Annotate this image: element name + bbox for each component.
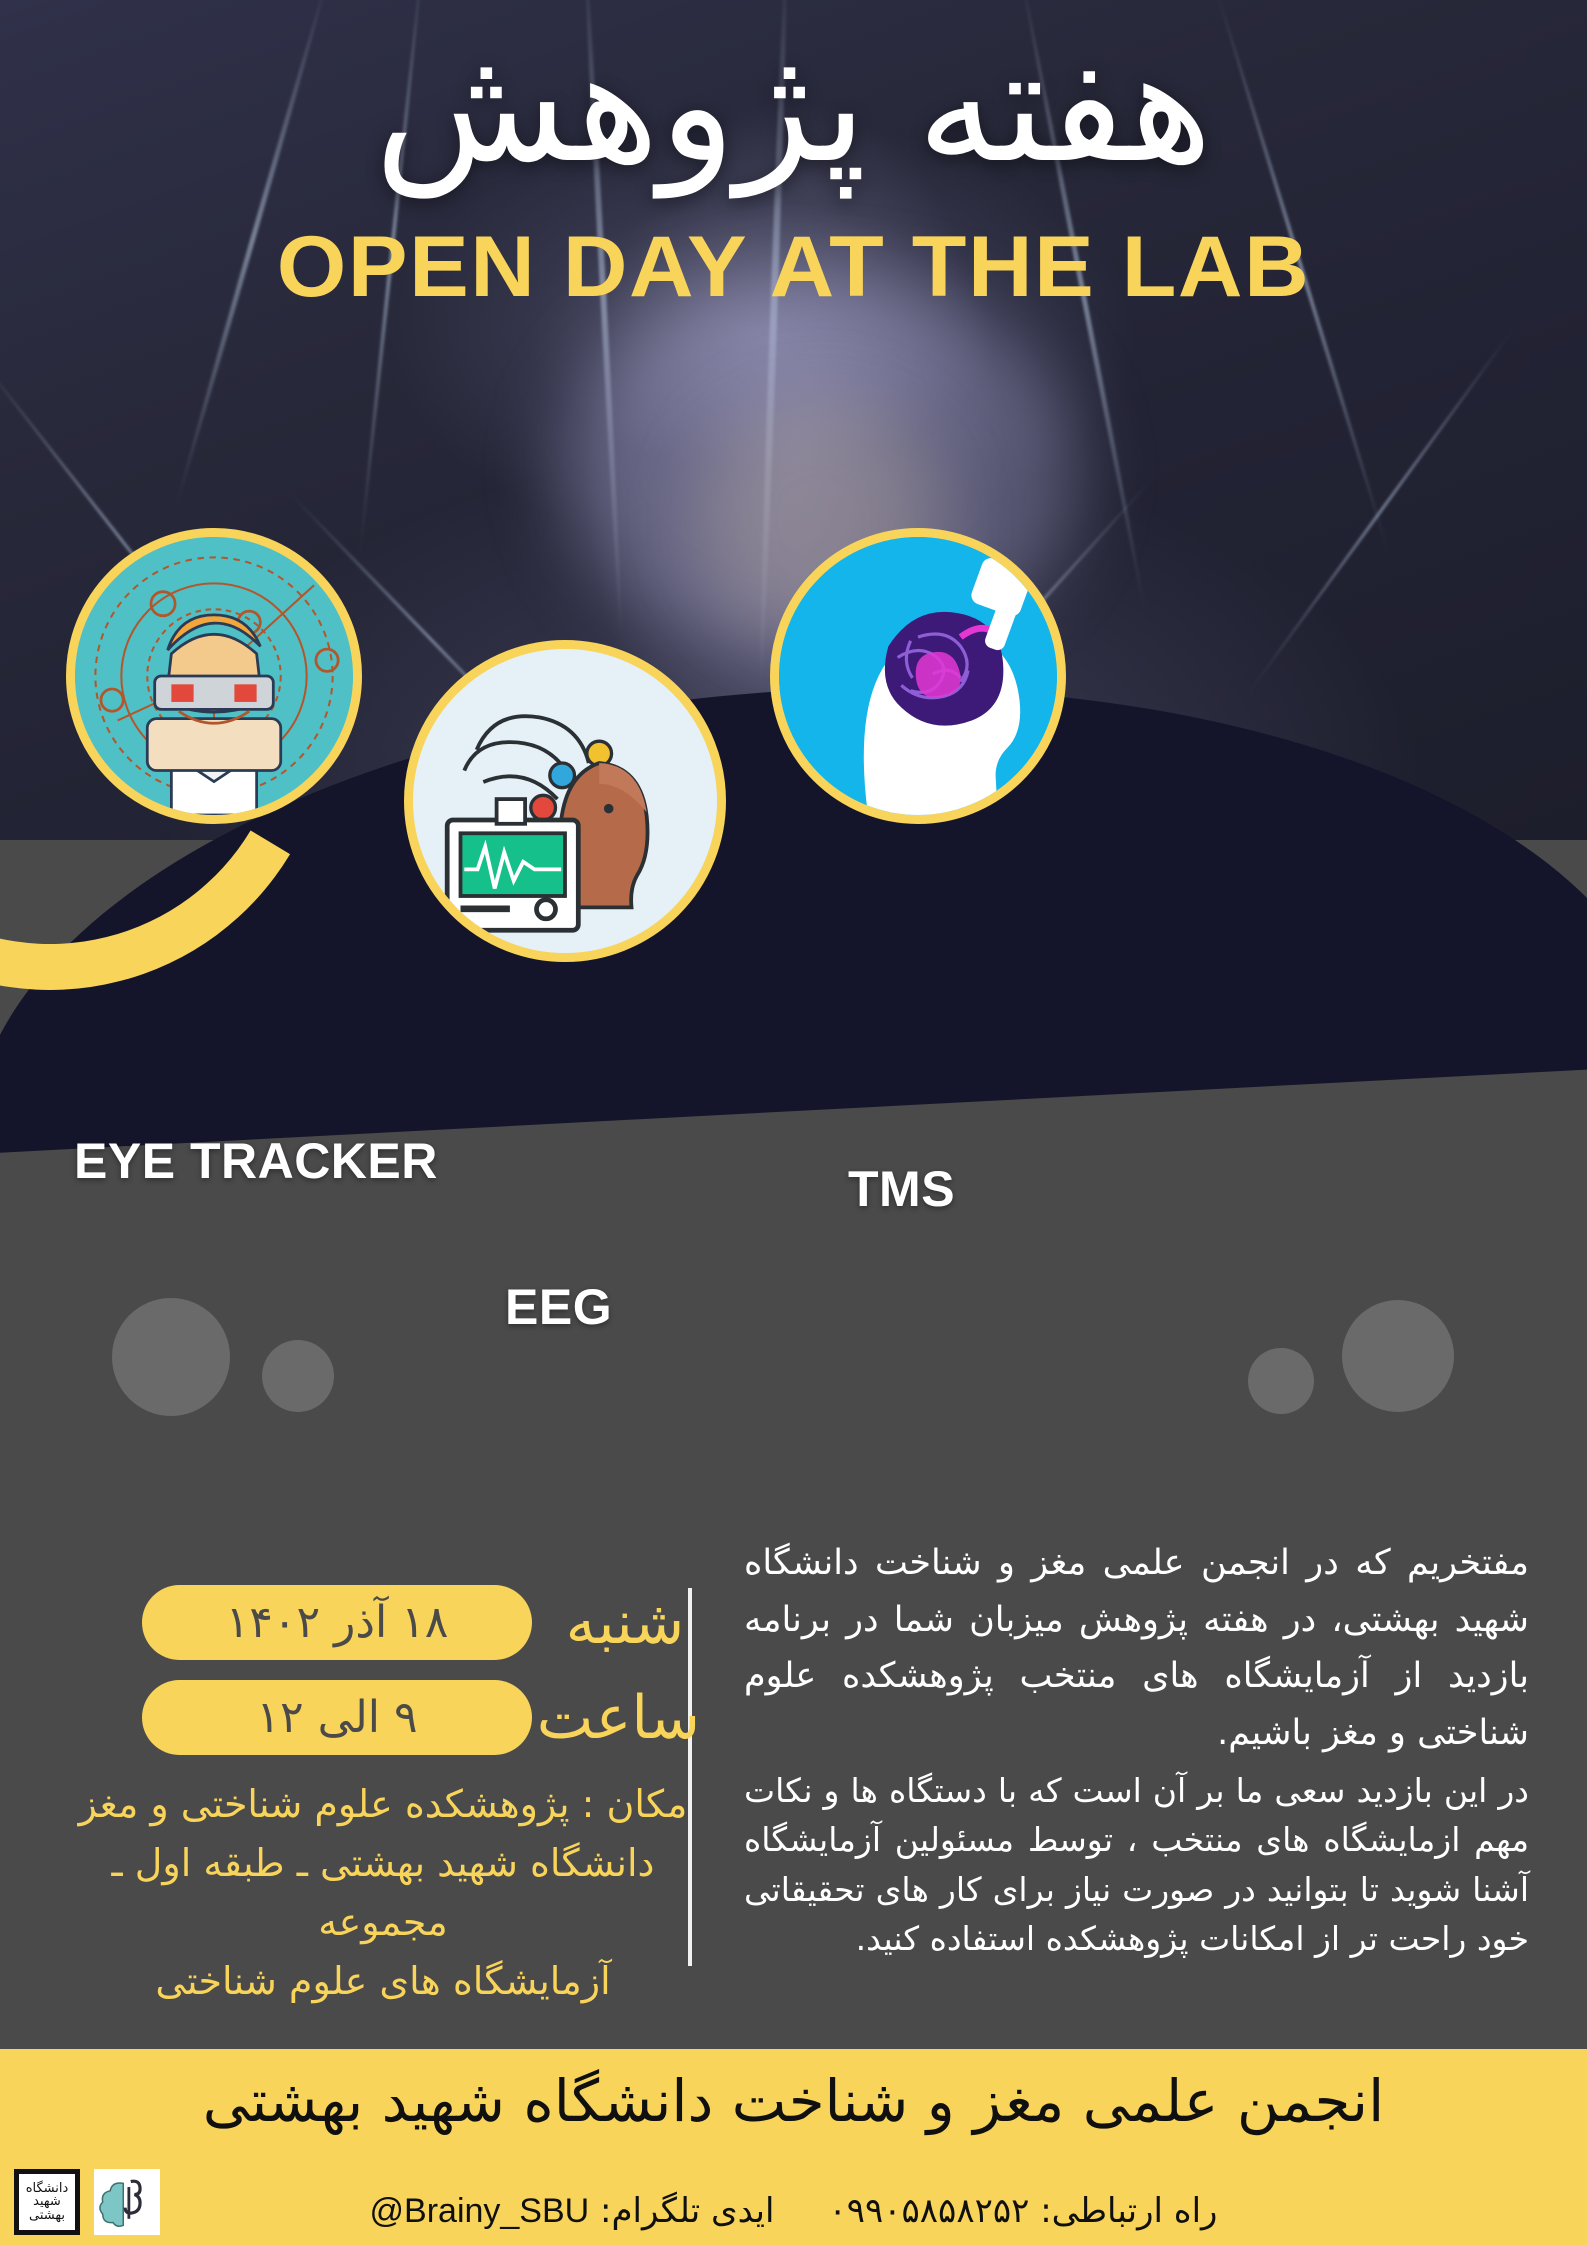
time-row: ساعت ۹ الی ۱۲ (60, 1680, 700, 1755)
icon-circle-eye-tracker[interactable] (66, 528, 362, 824)
description-block: مفتخریم که در انجمن علمی مغز و شناخت دان… (744, 1535, 1529, 1968)
contact-label: راه ارتباطی: (1040, 2191, 1217, 2231)
date-pill: ۱۸ آذر ۱۴۰۲ (142, 1585, 532, 1660)
poster-title-en: OPEN DAY AT THE LAB (0, 218, 1587, 317)
tms-icon (779, 537, 1057, 815)
footer-logos: دانشگاه شهید بهشتی (14, 2169, 160, 2235)
icon-label-eeg: EEG (505, 1278, 612, 1336)
date-row: شنبه ۱۸ آذر ۱۴۰۲ (60, 1585, 700, 1660)
decorative-blob (1342, 1300, 1454, 1412)
time-label: ساعت (550, 1688, 700, 1748)
event-details: شنبه ۱۸ آذر ۱۴۰۲ ساعت ۹ الی ۱۲ مکان : پژ… (60, 1585, 700, 2011)
contact-phone: ۰۹۹۰۵۸۵۸۲۵۲ (828, 2191, 1029, 2231)
footer-band: انجمن علمی مغز و شناخت دانشگاه شهید بهشت… (0, 2049, 1587, 2245)
venue-line: مکان : پژوهشکده علوم شناختی و مغز (66, 1775, 700, 1834)
eeg-icon (413, 649, 717, 953)
icon-label-tms: TMS (848, 1160, 955, 1218)
sbu-university-logo: دانشگاه شهید بهشتی (14, 2169, 80, 2235)
brain-icon (99, 2174, 155, 2230)
decorative-blob (262, 1340, 334, 1412)
venue-text: مکان : پژوهشکده علوم شناختی و مغز دانشگا… (60, 1775, 700, 2011)
description-paragraph-2: در این بازدید سعی ما بر آن است که با دست… (744, 1766, 1529, 1964)
venue-line: آزمایشگاه های علوم شناختی (66, 1952, 700, 2011)
contact-row: راه ارتباطی: ۰۹۹۰۵۸۵۸۲۵۲ ایدی تلگرام: @B… (0, 2191, 1587, 2231)
telegram-label: ایدی تلگرام: (600, 2191, 774, 2231)
day-label: شنبه (550, 1593, 700, 1653)
time-pill: ۹ الی ۱۲ (142, 1680, 532, 1755)
decorative-blob (112, 1298, 230, 1416)
icon-circle-tms[interactable] (770, 528, 1066, 824)
icon-label-eye-tracker: EYE TRACKER (74, 1132, 438, 1190)
poster-title-fa: هفته پژوهش (0, 24, 1587, 190)
sbu-logo-text: دانشگاه شهید بهشتی (19, 2182, 75, 2223)
description-paragraph-1: مفتخریم که در انجمن علمی مغز و شناخت دان… (744, 1535, 1529, 1762)
decorative-blob (1248, 1348, 1314, 1414)
telegram-handle[interactable]: @Brainy_SBU (370, 2192, 590, 2231)
brain-association-logo (94, 2169, 160, 2235)
eye-tracker-icon (75, 537, 353, 815)
venue-line: دانشگاه شهید بهشتی ـ طبقه اول ـ مجموعه (66, 1834, 700, 1952)
icon-circle-eeg[interactable] (404, 640, 726, 962)
organization-name: انجمن علمی مغز و شناخت دانشگاه شهید بهشت… (0, 2067, 1587, 2135)
poster-root: هفته پژوهش OPEN DAY AT THE LAB (0, 0, 1587, 2245)
